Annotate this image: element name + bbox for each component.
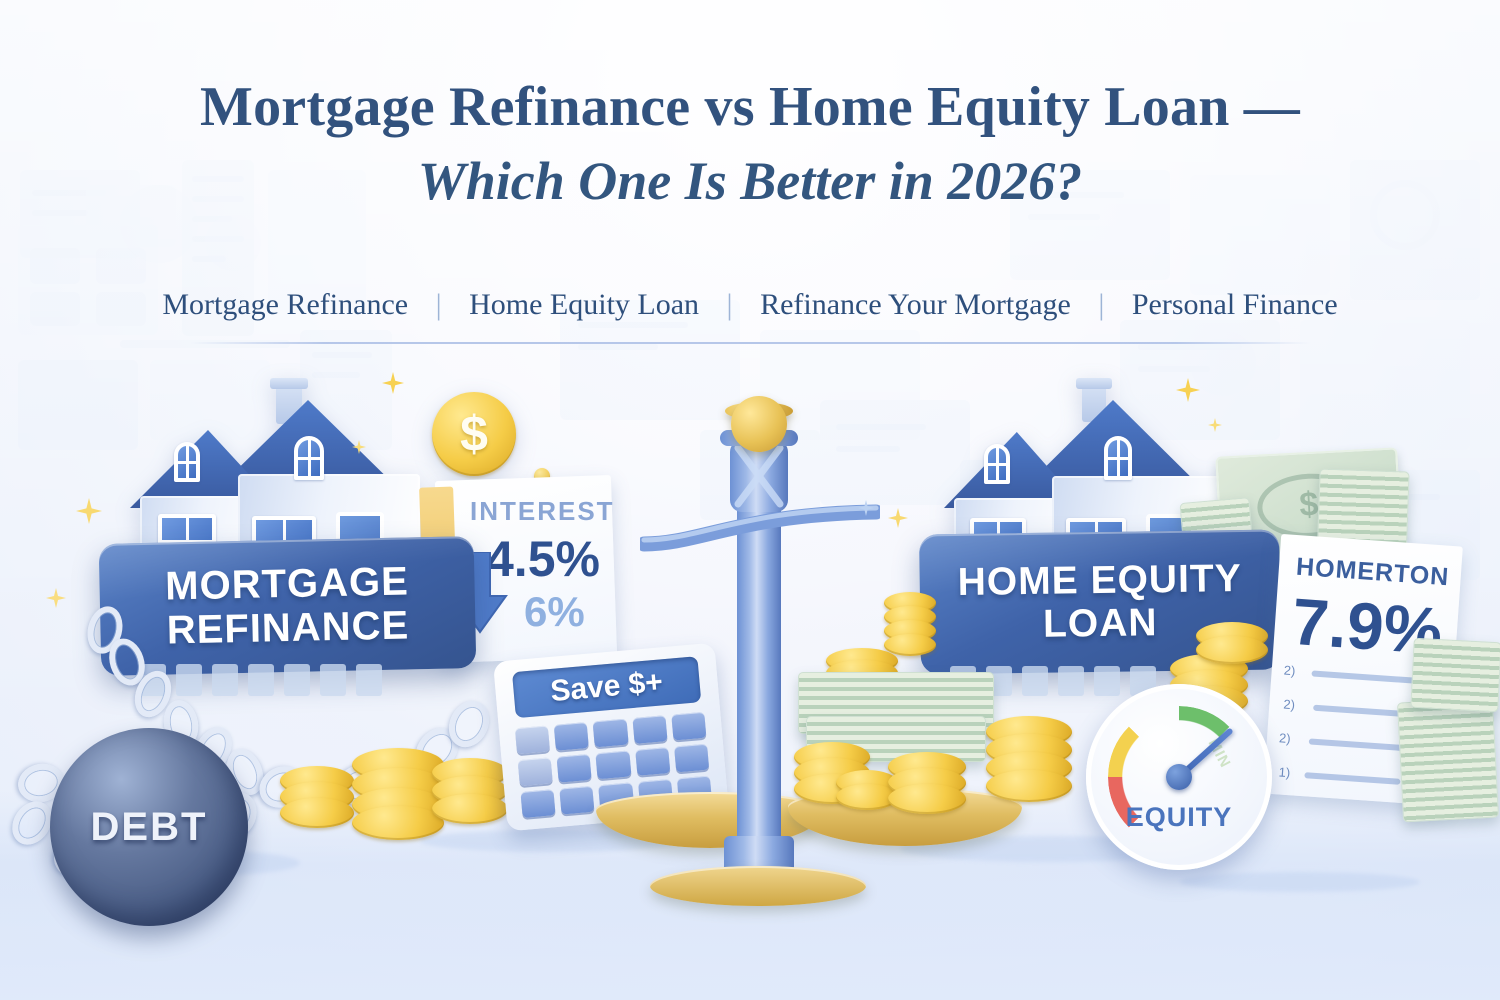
calculator-display: Save $+: [512, 656, 702, 718]
banner-line2: REFINANCE: [166, 605, 409, 650]
calculator-key[interactable]: [593, 719, 629, 748]
calculator-key[interactable]: [635, 747, 671, 776]
calculator-key[interactable]: [632, 715, 668, 744]
banner-line1: HOME EQUITY: [957, 559, 1242, 602]
calculator-key[interactable]: [514, 725, 550, 754]
calculator-key[interactable]: [596, 751, 632, 780]
gauge-hub: [1166, 764, 1192, 790]
doc-row-mark: 2): [1283, 662, 1296, 678]
calculator-key[interactable]: [517, 757, 553, 786]
sparkle-icon: [76, 498, 102, 524]
old-interest-rate: 6%: [524, 588, 585, 636]
sparkle-icon: [352, 440, 366, 454]
doc-row-mark: 2): [1283, 697, 1296, 713]
sparkle-icon: [1208, 418, 1222, 432]
mortgage-refinance-banner: MORTGAGE REFINANCE: [99, 536, 477, 676]
category-breadcrumb: Mortgage Refinance | Home Equity Loan | …: [0, 288, 1500, 322]
banner-window-strip: [140, 664, 440, 696]
calculator-key[interactable]: [674, 744, 710, 773]
page-title-line1: Mortgage Refinance vs Home Equity Loan —: [0, 78, 1500, 137]
category-separator: |: [420, 288, 458, 321]
debt-ball-label: DEBT: [91, 805, 208, 850]
gauge-label: EQUITY: [1086, 802, 1272, 833]
dollar-coin-icon: $: [432, 392, 516, 476]
equity-gauge: MIN EQUITY: [1086, 684, 1272, 870]
category-separator: |: [711, 288, 749, 321]
sparkle-icon: [1176, 378, 1200, 402]
doc-row-mark: 1): [1278, 764, 1291, 780]
calculator-key[interactable]: [671, 712, 707, 741]
page-title-line2: Which One Is Better in 2026?: [0, 153, 1500, 210]
sparkle-icon: [888, 508, 908, 528]
calculator-key[interactable]: [559, 786, 595, 815]
hero-heading-block: Mortgage Refinance vs Home Equity Loan —…: [0, 78, 1500, 209]
calculator-key[interactable]: [554, 722, 590, 751]
banner-line1: MORTGAGE: [165, 561, 409, 606]
calculator-key[interactable]: [520, 789, 556, 818]
sparkle-icon: [858, 500, 874, 516]
hero-banner: Mortgage Refinance vs Home Equity Loan —…: [0, 0, 1500, 1000]
header-divider: [190, 342, 1310, 344]
debt-ball: DEBT: [50, 728, 248, 926]
category-link-home-equity-loan[interactable]: Home Equity Loan: [465, 288, 703, 321]
doc-row-mark: 2): [1279, 730, 1292, 746]
banknote-stack: [1410, 638, 1500, 713]
scale-finial-sphere: [731, 396, 787, 452]
banknote-stack: [1397, 698, 1499, 823]
interest-label: INTEREST: [470, 496, 615, 527]
category-link-mortgage-refinance[interactable]: Mortgage Refinance: [158, 288, 412, 321]
category-link-refinance-your-mortgage[interactable]: Refinance Your Mortgage: [756, 288, 1075, 321]
scale-base-disc: [650, 866, 866, 906]
calculator-key[interactable]: [556, 754, 592, 783]
category-separator: |: [1082, 288, 1120, 321]
category-link-personal-finance[interactable]: Personal Finance: [1128, 288, 1342, 321]
sparkle-icon: [46, 588, 66, 608]
sparkle-icon: [382, 372, 404, 394]
banner-line2: LOAN: [1043, 603, 1158, 644]
